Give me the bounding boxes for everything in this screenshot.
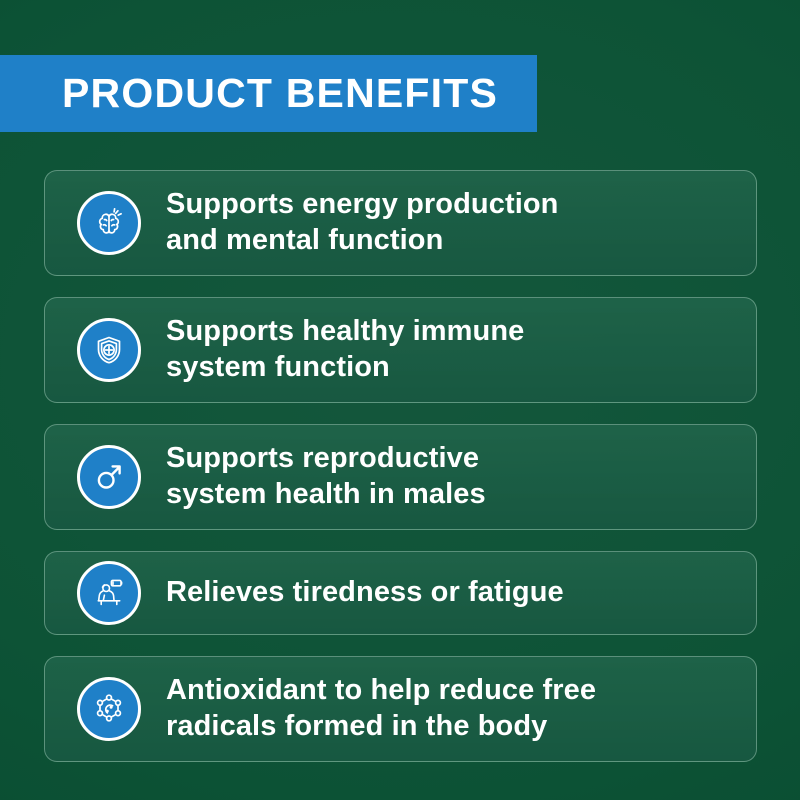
benefit-text-line1: Supports energy production (166, 187, 559, 223)
benefit-text-line2: radicals formed in the body (166, 709, 596, 745)
benefit-text: Supports healthy immune system function (166, 314, 524, 385)
brain-icon (77, 191, 141, 255)
benefit-text-line2: system function (166, 350, 524, 386)
header-banner: PRODUCT BENEFITS (0, 55, 537, 132)
benefit-card: Supports healthy immune system function (44, 297, 757, 403)
benefit-text-line2: and mental function (166, 223, 559, 259)
fatigue-person-icon (77, 561, 141, 625)
male-symbol-icon (77, 445, 141, 509)
shield-cross-icon (77, 318, 141, 382)
benefit-text: Antioxidant to help reduce free radicals… (166, 673, 596, 744)
benefit-text-line1: Relieves tiredness or fatigue (166, 575, 564, 611)
benefit-list: Supports energy production and mental fu… (44, 170, 757, 783)
page-title: PRODUCT BENEFITS (62, 73, 498, 114)
benefit-card: Antioxidant to help reduce free radicals… (44, 656, 757, 762)
benefit-text: Supports reproductive system health in m… (166, 441, 486, 512)
benefit-text-line2: system health in males (166, 477, 486, 513)
infographic-page: PRODUCT BENEFITS Supports energy product… (0, 0, 800, 800)
benefit-card: Supports energy production and mental fu… (44, 170, 757, 276)
molecule-icon (77, 677, 141, 741)
benefit-text-line1: Antioxidant to help reduce free (166, 673, 596, 709)
benefit-card: Supports reproductive system health in m… (44, 424, 757, 530)
benefit-text-line1: Supports reproductive (166, 441, 486, 477)
benefit-card: Relieves tiredness or fatigue (44, 551, 757, 635)
benefit-text: Supports energy production and mental fu… (166, 187, 559, 258)
benefit-text-line1: Supports healthy immune (166, 314, 524, 350)
benefit-text: Relieves tiredness or fatigue (166, 575, 564, 611)
